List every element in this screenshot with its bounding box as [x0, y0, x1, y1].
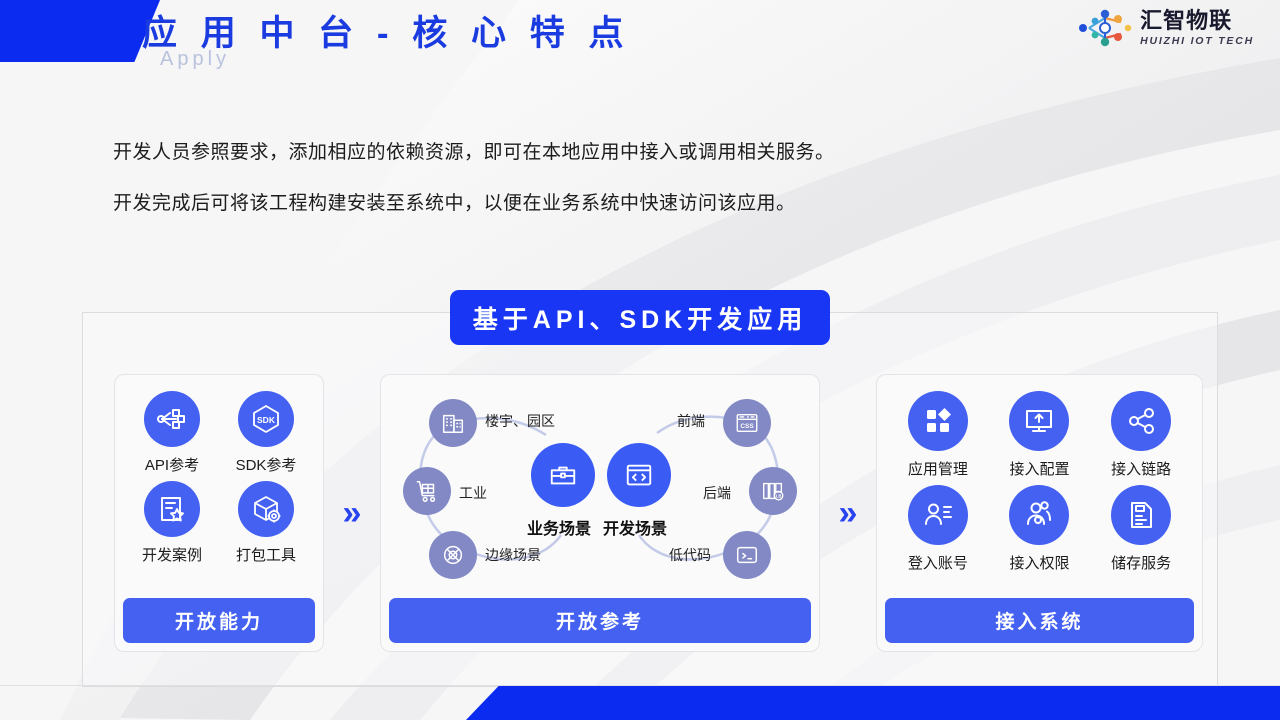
chevron-double-right-icon-2: » [820, 374, 876, 652]
document-save-icon [1111, 485, 1171, 545]
item-label: API参考 [145, 454, 199, 475]
molecule-network-icon [1078, 8, 1132, 48]
node-label-industry: 工业 [459, 483, 487, 503]
intro-text: 开发人员参照要求，添加相应的依赖资源，即可在本地应用中接入或调用相关服务。 开发… [113, 138, 835, 241]
hub-development-scenario[interactable] [607, 443, 671, 507]
sdk-cube-icon: SDK [238, 391, 294, 447]
item-dev-case[interactable]: 开发案例 [142, 481, 202, 565]
scenario-diagram: 楼宇、园区 工业 边缘场景 [381, 375, 819, 597]
item-login-account[interactable]: 登入账号 [908, 485, 968, 573]
user-gear-icon [1009, 485, 1069, 545]
hub-business-scenario[interactable] [531, 443, 595, 507]
logo-text-cn: 汇智物联 [1140, 10, 1254, 32]
page-subtitle: Apply [160, 48, 230, 71]
bottom-divider [0, 685, 1280, 686]
svg-text:SDK: SDK [257, 415, 276, 425]
footer-blue-shape [466, 686, 1280, 720]
monitor-upload-icon [1009, 391, 1069, 451]
intro-line-1: 开发人员参照要求，添加相应的依赖资源，即可在本地应用中接入或调用相关服务。 [113, 138, 835, 167]
item-label: 接入权限 [1009, 552, 1069, 573]
left-icon-grid: API参考 SDK SDK参考 [115, 375, 323, 569]
item-access-link[interactable]: 接入链路 [1111, 391, 1171, 479]
logo-text-en: HUIZHI IOT TECH [1140, 36, 1254, 47]
node-label-edge: 边缘场景 [485, 545, 541, 565]
panel-footer-open-reference[interactable]: 开放参考 [389, 598, 811, 643]
item-sdk-reference[interactable]: SDK SDK参考 [236, 391, 297, 475]
package-gear-icon [238, 481, 294, 537]
item-access-permission[interactable]: 接入权限 [1009, 485, 1069, 573]
item-label: SDK参考 [236, 454, 297, 475]
item-label: 接入配置 [1009, 458, 1069, 479]
item-packaging-tool[interactable]: 打包工具 [236, 481, 296, 565]
panels-row: API参考 SDK SDK参考 [114, 374, 1214, 652]
node-edge-scenario[interactable] [429, 531, 477, 579]
node-label-building: 楼宇、园区 [485, 411, 555, 431]
node-backend[interactable]: LB [749, 467, 797, 515]
item-label: 储存服务 [1111, 552, 1171, 573]
page-header: 应 用 中 台 - 核 心 特 点 Apply 汇智物联 [0, 0, 1280, 72]
grid-apps-icon [908, 391, 968, 451]
node-lowcode[interactable] [723, 531, 771, 579]
intro-line-2: 开发完成后可将该工程构建安装至系统中，以便在业务系统中快速访问该应用。 [113, 189, 835, 218]
panel-footer-access-system[interactable]: 接入系统 [885, 598, 1194, 643]
section-banner: 基于API、SDK开发应用 [450, 290, 830, 345]
item-api-reference[interactable]: API参考 [144, 391, 200, 475]
svg-text:CSS: CSS [740, 423, 754, 430]
chevron-double-right-icon-1: » [324, 374, 380, 652]
header-blue-shape [0, 0, 160, 62]
svg-text:LB: LB [776, 494, 782, 499]
document-star-icon [144, 481, 200, 537]
panel-footer-open-capability[interactable]: 开放能力 [123, 598, 315, 643]
node-label-backend: 后端 [703, 483, 731, 503]
hub-label-business: 业务场景 [527, 515, 591, 539]
item-label: 打包工具 [236, 544, 296, 565]
panel-open-capability: API参考 SDK SDK参考 [114, 374, 324, 652]
item-label: 开发案例 [142, 544, 202, 565]
item-label: 登入账号 [908, 552, 968, 573]
node-frontend[interactable]: CSS [723, 399, 771, 447]
item-app-management[interactable]: 应用管理 [908, 391, 968, 479]
node-building[interactable] [429, 399, 477, 447]
node-label-frontend: 前端 [677, 411, 705, 431]
item-label: 接入链路 [1111, 458, 1171, 479]
panel-access-system: 应用管理 接入配置 [876, 374, 1203, 652]
node-label-lowcode: 低代码 [669, 545, 711, 565]
panel-open-reference: 楼宇、园区 工业 边缘场景 [380, 374, 820, 652]
item-access-config[interactable]: 接入配置 [1009, 391, 1069, 479]
right-icon-grid: 应用管理 接入配置 [877, 375, 1202, 577]
hub-label-development: 开发场景 [603, 515, 667, 539]
item-storage-service[interactable]: 储存服务 [1111, 485, 1171, 573]
user-list-icon [908, 485, 968, 545]
share-nodes-icon [1111, 391, 1171, 451]
brand-logo: 汇智物联 HUIZHI IOT TECH [1078, 8, 1254, 48]
item-label: 应用管理 [908, 458, 968, 479]
node-industry[interactable] [403, 467, 451, 515]
api-branch-icon [144, 391, 200, 447]
